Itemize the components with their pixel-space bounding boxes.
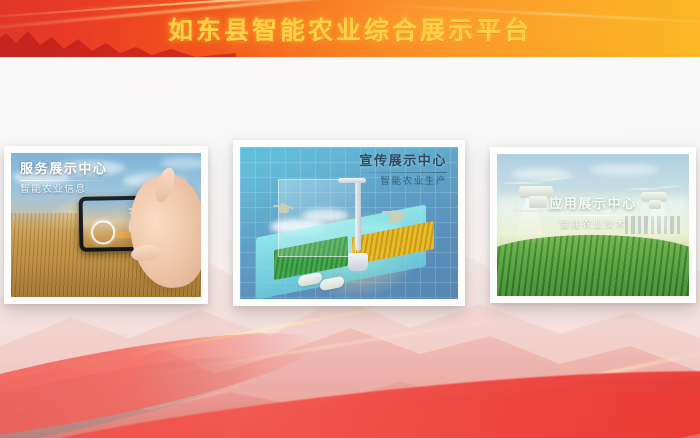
card-application-center[interactable]: 应用展示中心 智能农业技术 (490, 147, 696, 303)
hud-ring-icon (91, 220, 115, 244)
card-application-title: 应用展示中心 (490, 197, 696, 211)
card-service-subtitle: 智能农业信息 (20, 185, 112, 195)
iso-greenhouse-glass (278, 179, 356, 257)
platform-landing-page: 如东县智能农业综合展示平台 (0, 0, 700, 438)
card-promotion-subtitle: 智能农业生产 (351, 177, 447, 187)
divider-line (351, 172, 447, 173)
divider-line (20, 180, 112, 181)
divider-line (541, 215, 645, 216)
card-promotion-center[interactable]: 宣传展示中心 智能农业生产 (233, 140, 465, 306)
card-service-text-block: 服务展示中心 智能农业信息 (20, 162, 112, 196)
card-application-text-block: 应用展示中心 智能农业技术 (490, 197, 696, 231)
card-service-center[interactable]: 服务展示中心 智能农业信息 (4, 146, 208, 304)
cloud-decor (589, 164, 659, 176)
header-banner: 如东县智能农业综合展示平台 (0, 0, 700, 57)
iso-tank-decor (348, 253, 368, 271)
card-promotion-title: 宣传展示中心 (351, 154, 447, 168)
page-title: 如东县智能农业综合展示平台 (0, 0, 700, 57)
card-service-title: 服务展示中心 (20, 162, 112, 176)
card-application-subtitle: 智能农业技术 (490, 220, 696, 230)
iso-irrigation-pole (356, 179, 361, 251)
card-promotion-text-block: 宣传展示中心 智能农业生产 (351, 154, 447, 188)
